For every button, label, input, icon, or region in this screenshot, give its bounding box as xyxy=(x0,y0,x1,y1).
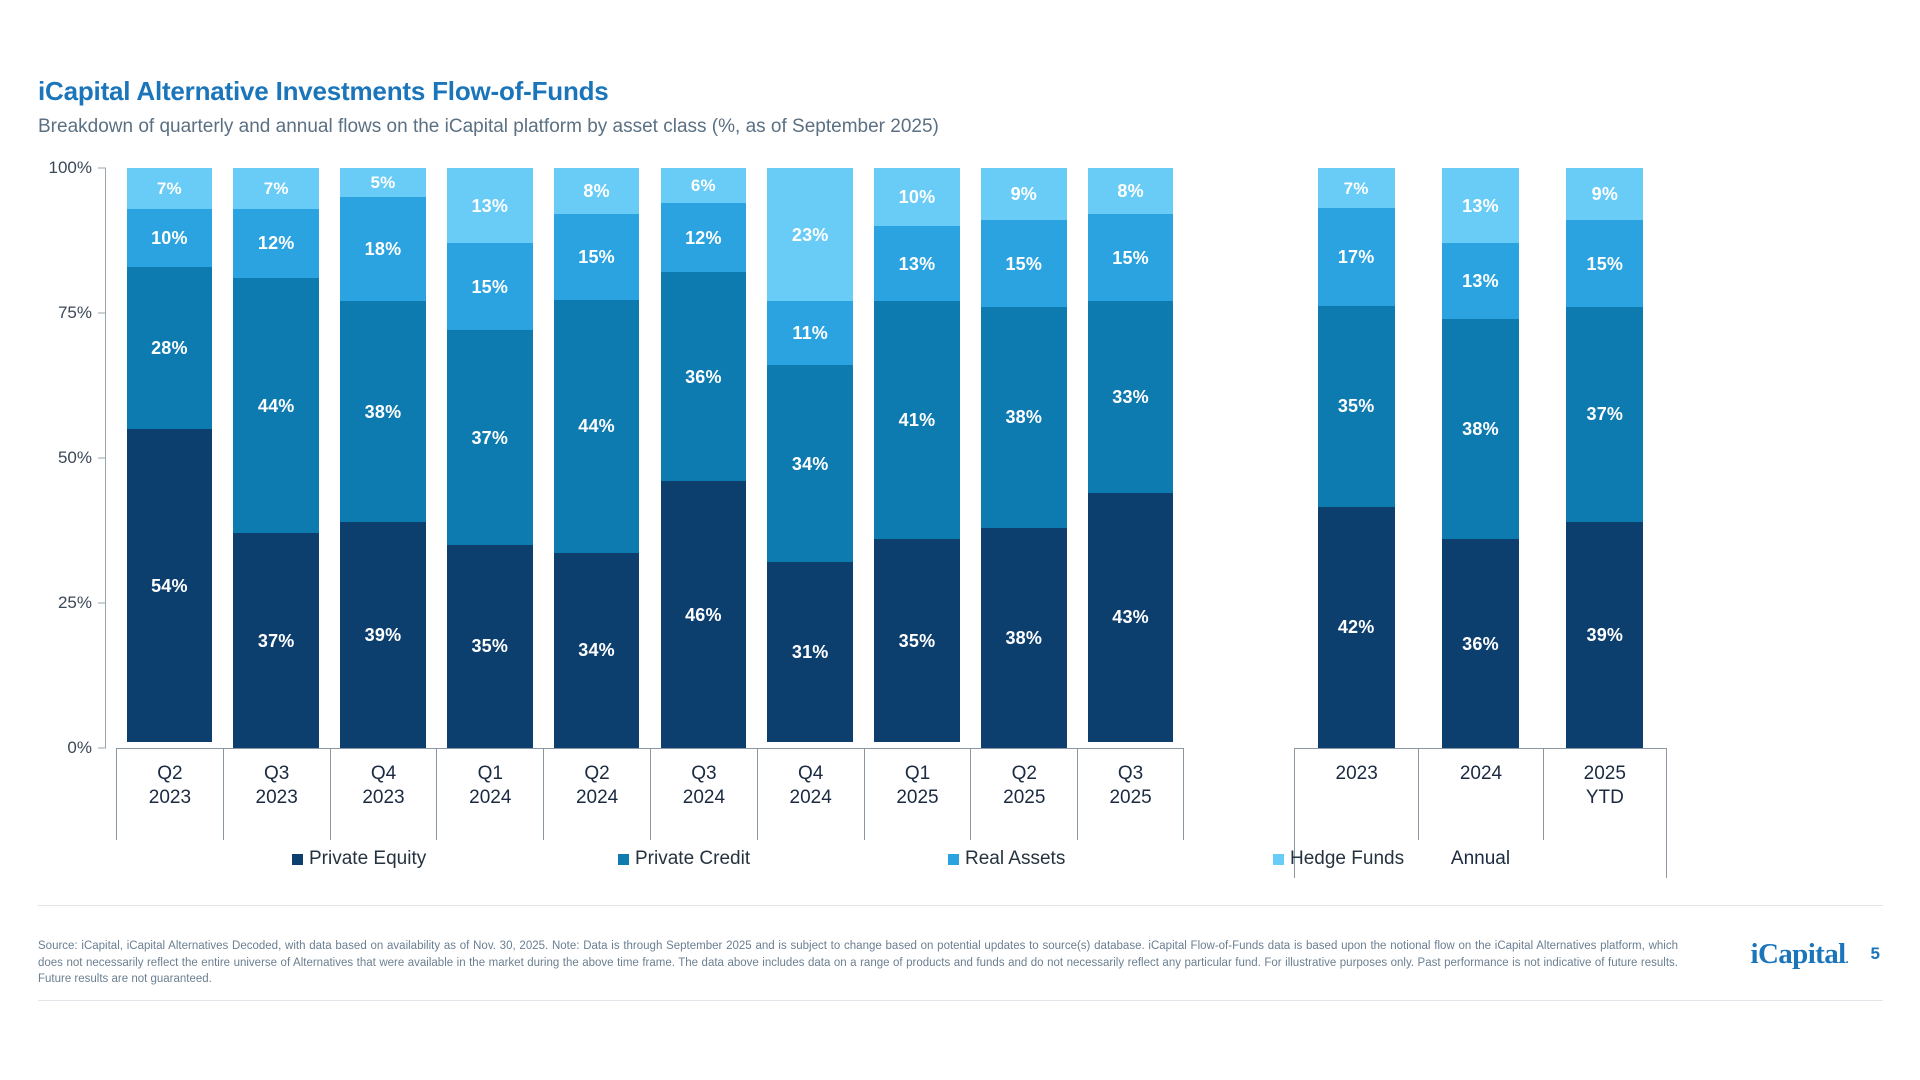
bar-group-q0[interactable]: 7%10%28%54% xyxy=(127,168,212,748)
x-axis-category-quarterly: Q12024 xyxy=(436,748,543,840)
bar-segment-value-label: 8% xyxy=(583,182,609,200)
legend-item-private-credit[interactable]: Private Credit xyxy=(618,848,750,870)
stacked-bar[interactable]: 13%13%38%36% xyxy=(1442,168,1519,748)
x-axis-label-line2: 2024 xyxy=(651,786,757,810)
bar-segment-value-label: 38% xyxy=(1005,629,1042,647)
bar-segment-value-label: 9% xyxy=(1011,185,1037,203)
bar-segment-value-label: 10% xyxy=(899,188,936,206)
bar-group-a0[interactable]: 7%17%35%42% xyxy=(1318,168,1395,748)
x-axis-label-line1: Q3 xyxy=(651,762,757,786)
bar-segment-private-credit[interactable]: 34% xyxy=(767,365,852,562)
bar-segment-value-label: 23% xyxy=(792,226,829,244)
x-axis-label-line2: 2023 xyxy=(224,786,330,810)
bar-segment-value-label: 8% xyxy=(1117,182,1143,200)
bar-segment-value-label: 41% xyxy=(899,411,936,429)
y-axis-tick-label: 50% xyxy=(58,448,92,468)
bar-segment-hedge-funds[interactable]: 5% xyxy=(340,168,425,197)
source-note: Source: iCapital, iCapital Alternatives … xyxy=(38,938,1678,988)
y-axis-tick-label: 100% xyxy=(49,158,92,178)
bar-segment-value-label: 7% xyxy=(1344,180,1369,197)
bar-segment-value-label: 7% xyxy=(157,180,182,197)
bar-segment-value-label: 33% xyxy=(1112,388,1149,406)
bar-segment-value-label: 35% xyxy=(471,637,508,655)
bar-segment-real-assets[interactable]: 13% xyxy=(874,226,959,301)
bar-segment-value-label: 6% xyxy=(691,177,716,194)
x-axis-label-line1: Q3 xyxy=(224,762,330,786)
x-axis-label-line1: Q3 xyxy=(1078,762,1183,786)
bar-segment-value-label: 38% xyxy=(1005,408,1042,426)
stacked-bar[interactable]: 7%10%28%54% xyxy=(127,168,212,748)
x-axis-label-line1: Q2 xyxy=(544,762,650,786)
page-title: iCapital Alternative Investments Flow-of… xyxy=(38,76,609,107)
bar-segment-value-label: 15% xyxy=(471,278,508,296)
bar-segment-private-equity[interactable]: 34% xyxy=(554,553,639,748)
stacked-bar[interactable]: 6%12%36%46% xyxy=(661,168,746,748)
legend-label: Hedge Funds xyxy=(1290,848,1404,870)
x-axis-category-label: Q22024 xyxy=(544,762,650,810)
bar-segment-private-credit[interactable]: 38% xyxy=(1442,319,1519,539)
bar-segment-value-label: 17% xyxy=(1338,248,1375,266)
bar-group-q4[interactable]: 8%15%44%34% xyxy=(554,168,639,748)
legend-item-hedge-funds[interactable]: Hedge Funds xyxy=(1273,848,1404,870)
icapital-logo-text: iCapital xyxy=(1750,938,1845,970)
bar-segment-value-label: 15% xyxy=(1112,249,1149,267)
x-axis-category-label: Q22025 xyxy=(971,762,1077,810)
bar-segment-hedge-funds[interactable]: 8% xyxy=(554,168,639,214)
bar-segment-hedge-funds[interactable]: 23% xyxy=(767,168,852,301)
bar-segment-value-label: 28% xyxy=(151,339,188,357)
x-axis-category-quarterly: Q22023 xyxy=(116,748,223,840)
bar-segment-hedge-funds[interactable]: 7% xyxy=(1318,168,1395,208)
bar-segment-value-label: 15% xyxy=(1587,255,1624,273)
bar-segment-value-label: 39% xyxy=(1587,626,1624,644)
x-axis-label-line1: Q1 xyxy=(865,762,971,786)
bar-series-container: 7%10%28%54%7%12%44%37%5%18%38%39%13%15%3… xyxy=(116,168,1888,748)
bar-segment-private-credit[interactable]: 35% xyxy=(1318,306,1395,507)
x-axis-category-label: Q12025 xyxy=(865,762,971,810)
bar-segment-value-label: 35% xyxy=(899,632,936,650)
bar-group-q8[interactable]: 9%15%38%38% xyxy=(981,168,1066,748)
bar-segment-hedge-funds[interactable]: 13% xyxy=(447,168,532,243)
bar-segment-private-equity[interactable]: 31% xyxy=(767,562,852,742)
x-axis-category-quarterly: Q42023 xyxy=(330,748,437,840)
bar-segment-private-credit[interactable]: 38% xyxy=(981,307,1066,527)
bar-segment-hedge-funds[interactable]: 9% xyxy=(981,168,1066,220)
x-axis-label-line2: 2024 xyxy=(437,786,543,810)
bar-segment-value-label: 15% xyxy=(578,248,615,266)
bar-segment-value-label: 18% xyxy=(365,240,402,258)
page-subtitle: Breakdown of quarterly and annual flows … xyxy=(38,116,939,138)
x-axis-category-label: Q22023 xyxy=(117,762,223,810)
bar-segment-private-credit[interactable]: 36% xyxy=(661,272,746,481)
legend-swatch-icon xyxy=(1273,854,1284,865)
stacked-bar[interactable]: 9%15%37%39% xyxy=(1566,168,1643,748)
footer-divider-top xyxy=(38,905,1883,906)
bar-segment-value-label: 36% xyxy=(1462,635,1499,653)
bar-segment-value-label: 10% xyxy=(151,229,188,247)
x-axis-label-line1: Q1 xyxy=(437,762,543,786)
bar-group-a2[interactable]: 9%15%37%39% xyxy=(1566,168,1643,748)
x-axis-category-quarterly: Q32024 xyxy=(650,748,757,840)
stacked-bar[interactable]: 5%18%38%39% xyxy=(340,168,425,748)
bar-segment-value-label: 12% xyxy=(258,234,295,252)
x-axis-category-quarterly: Q22025 xyxy=(970,748,1077,840)
bar-segment-private-equity[interactable]: 39% xyxy=(1566,522,1643,748)
bar-group-q6[interactable]: 23%11%34%31% xyxy=(767,168,852,748)
stacked-bar[interactable]: 8%15%44%34% xyxy=(554,168,639,748)
bar-segment-real-assets[interactable]: 15% xyxy=(1088,214,1173,301)
bar-segment-private-equity[interactable]: 35% xyxy=(447,545,532,748)
bar-segment-value-label: 39% xyxy=(365,626,402,644)
bar-segment-real-assets[interactable]: 10% xyxy=(127,209,212,267)
x-axis-label-line2: 2025 xyxy=(865,786,971,810)
x-axis-category-label: Q12024 xyxy=(437,762,543,810)
bar-segment-private-equity[interactable]: 54% xyxy=(127,429,212,742)
x-axis-category-quarterly: Q22024 xyxy=(543,748,650,840)
x-axis-label-line1: Q4 xyxy=(758,762,864,786)
bar-segment-value-label: 44% xyxy=(578,417,615,435)
x-axis-category-label: Q42023 xyxy=(331,762,437,810)
bar-segment-private-equity[interactable]: 37% xyxy=(233,533,318,748)
legend-item-real-assets[interactable]: Real Assets xyxy=(948,848,1065,870)
bar-segment-private-equity[interactable]: 43% xyxy=(1088,493,1173,742)
bar-segment-value-label: 46% xyxy=(685,606,722,624)
bar-segment-real-assets[interactable]: 13% xyxy=(1442,243,1519,318)
x-axis-label-line2: 2023 xyxy=(331,786,437,810)
x-axis-category-quarterly: Q12025 xyxy=(864,748,971,840)
bar-segment-private-equity[interactable]: 35% xyxy=(874,539,959,742)
stacked-bar[interactable]: 7%17%35%42% xyxy=(1318,168,1395,748)
bar-segment-hedge-funds[interactable]: 9% xyxy=(1566,168,1643,220)
bar-segment-private-credit[interactable]: 44% xyxy=(233,278,318,533)
bar-segment-value-label: 12% xyxy=(685,229,722,247)
bar-segment-private-credit[interactable]: 41% xyxy=(874,301,959,539)
bar-segment-hedge-funds[interactable]: 7% xyxy=(127,168,212,209)
bar-segment-value-label: 13% xyxy=(899,255,936,273)
bar-segment-value-label: 11% xyxy=(792,324,828,342)
bar-segment-value-label: 37% xyxy=(471,429,508,447)
bar-segment-value-label: 35% xyxy=(1338,397,1375,415)
bar-segment-private-credit[interactable]: 37% xyxy=(447,330,532,545)
registered-mark: . xyxy=(1846,952,1848,966)
page-number: 5 xyxy=(1871,944,1880,964)
bar-segment-hedge-funds[interactable]: 6% xyxy=(661,168,746,203)
icapital-logo: iCapital. xyxy=(1750,938,1848,971)
bar-segment-private-equity[interactable]: 46% xyxy=(661,481,746,748)
bar-segment-real-assets[interactable]: 18% xyxy=(340,197,425,301)
bar-segment-value-label: 38% xyxy=(1462,420,1499,438)
bar-segment-value-label: 38% xyxy=(365,403,402,421)
bar-segment-value-label: 13% xyxy=(1462,197,1499,215)
bar-segment-value-label: 36% xyxy=(685,368,722,386)
bar-segment-value-label: 5% xyxy=(370,174,395,191)
stacked-bar[interactable]: 13%15%37%35% xyxy=(447,168,532,748)
stacked-bar[interactable]: 9%15%38%38% xyxy=(981,168,1066,748)
bar-group-a1[interactable]: 13%13%38%36% xyxy=(1442,168,1519,748)
bar-segment-value-label: 54% xyxy=(151,577,188,595)
bar-segment-value-label: 37% xyxy=(258,632,295,650)
legend-swatch-icon xyxy=(292,854,303,865)
y-axis-tick-label: 25% xyxy=(58,593,92,613)
legend-label: Real Assets xyxy=(965,848,1065,870)
bar-segment-value-label: 13% xyxy=(1462,272,1499,290)
bar-segment-real-assets[interactable]: 15% xyxy=(1566,220,1643,307)
legend-swatch-icon xyxy=(948,854,959,865)
bar-segment-private-credit[interactable]: 44% xyxy=(554,300,639,553)
footer-divider-bottom xyxy=(38,1000,1883,1001)
bar-segment-value-label: 7% xyxy=(264,180,289,197)
bar-segment-value-label: 15% xyxy=(1005,255,1042,273)
bar-segment-value-label: 31% xyxy=(792,643,829,661)
bar-segment-value-label: 44% xyxy=(258,397,295,415)
x-axis-quarterly-rule xyxy=(116,748,1184,749)
bar-segment-real-assets[interactable]: 12% xyxy=(661,203,746,273)
bar-segment-value-label: 37% xyxy=(1587,405,1624,423)
bar-segment-private-equity[interactable]: 39% xyxy=(340,522,425,748)
bar-segment-private-credit[interactable]: 38% xyxy=(340,301,425,521)
chart-legend: Private EquityPrivate CreditReal AssetsH… xyxy=(38,848,1888,878)
bar-segment-real-assets[interactable]: 15% xyxy=(981,220,1066,307)
bar-group-q1[interactable]: 7%12%44%37% xyxy=(233,168,318,748)
x-axis-category-label: Q32024 xyxy=(651,762,757,810)
bar-segment-real-assets[interactable]: 15% xyxy=(447,243,532,330)
x-axis-label-line2: 2024 xyxy=(544,786,650,810)
slide-canvas: iCapital Alternative Investments Flow-of… xyxy=(0,0,1920,1080)
stacked-bar[interactable]: 10%13%41%35% xyxy=(874,168,959,748)
x-axis-category-label: Q32023 xyxy=(224,762,330,810)
legend-item-private-equity[interactable]: Private Equity xyxy=(292,848,426,870)
x-axis-label-line1: Q2 xyxy=(117,762,223,786)
bar-segment-hedge-funds[interactable]: 8% xyxy=(1088,168,1173,214)
bar-group-q9[interactable]: 8%15%33%43% xyxy=(1088,168,1173,748)
y-axis-labels: 0%25%50%75%100% xyxy=(38,168,106,748)
x-axis-category-label: Q32025 xyxy=(1078,762,1183,810)
bar-group-q5[interactable]: 6%12%36%46% xyxy=(661,168,746,748)
x-axis-label-line1: Q4 xyxy=(331,762,437,786)
bar-segment-value-label: 34% xyxy=(578,641,615,659)
x-axis-label-line2: 2025 xyxy=(971,786,1077,810)
stacked-bar[interactable]: 23%11%34%31% xyxy=(767,168,852,748)
bar-segment-hedge-funds[interactable]: 7% xyxy=(233,168,318,209)
bar-segment-value-label: 42% xyxy=(1338,618,1375,636)
y-axis-tick-label: 0% xyxy=(67,738,92,758)
bar-group-q3[interactable]: 13%15%37%35% xyxy=(447,168,532,748)
bar-segment-real-assets[interactable]: 12% xyxy=(233,209,318,279)
legend-label: Private Equity xyxy=(309,848,426,870)
bar-segment-real-assets[interactable]: 11% xyxy=(767,301,852,365)
bar-segment-value-label: 9% xyxy=(1592,185,1618,203)
x-axis-category-quarterly: Q32023 xyxy=(223,748,330,840)
chart-plot-area: 0%25%50%75%100% 7%10%28%54%7%12%44%37%5%… xyxy=(38,168,1888,748)
bar-segment-private-equity[interactable]: 42% xyxy=(1318,507,1395,748)
x-axis-category-quarterly: Q32025 xyxy=(1077,748,1184,840)
legend-swatch-icon xyxy=(618,854,629,865)
bar-group-q7[interactable]: 10%13%41%35% xyxy=(874,168,959,748)
x-axis-label-line2: 2024 xyxy=(758,786,864,810)
bar-segment-hedge-funds[interactable]: 10% xyxy=(874,168,959,226)
x-axis-category-quarterly: Q42024 xyxy=(757,748,864,840)
stacked-bar[interactable]: 7%12%44%37% xyxy=(233,168,318,748)
stacked-bar[interactable]: 8%15%33%43% xyxy=(1088,168,1173,748)
bar-segment-hedge-funds[interactable]: 13% xyxy=(1442,168,1519,243)
y-axis-line xyxy=(105,168,106,748)
bar-segment-value-label: 13% xyxy=(471,197,508,215)
legend-label: Private Credit xyxy=(635,848,750,870)
bar-segment-private-equity[interactable]: 38% xyxy=(981,528,1066,748)
bar-segment-value-label: 34% xyxy=(792,455,829,473)
bar-segment-real-assets[interactable]: 17% xyxy=(1318,208,1395,306)
x-axis-category-label: Q42024 xyxy=(758,762,864,810)
bar-group-q2[interactable]: 5%18%38%39% xyxy=(340,168,425,748)
x-axis-label-line1: Q2 xyxy=(971,762,1077,786)
bar-segment-value-label: 43% xyxy=(1112,608,1149,626)
x-axis-label-line2: 2023 xyxy=(117,786,223,810)
x-axis-label-line2: 2025 xyxy=(1078,786,1183,810)
bar-segment-private-credit[interactable]: 33% xyxy=(1088,301,1173,492)
bar-segment-private-credit[interactable]: 37% xyxy=(1566,307,1643,522)
y-axis-tick-label: 75% xyxy=(58,303,92,323)
bar-segment-private-equity[interactable]: 36% xyxy=(1442,539,1519,748)
bar-segment-real-assets[interactable]: 15% xyxy=(554,214,639,300)
bar-segment-private-credit[interactable]: 28% xyxy=(127,267,212,429)
